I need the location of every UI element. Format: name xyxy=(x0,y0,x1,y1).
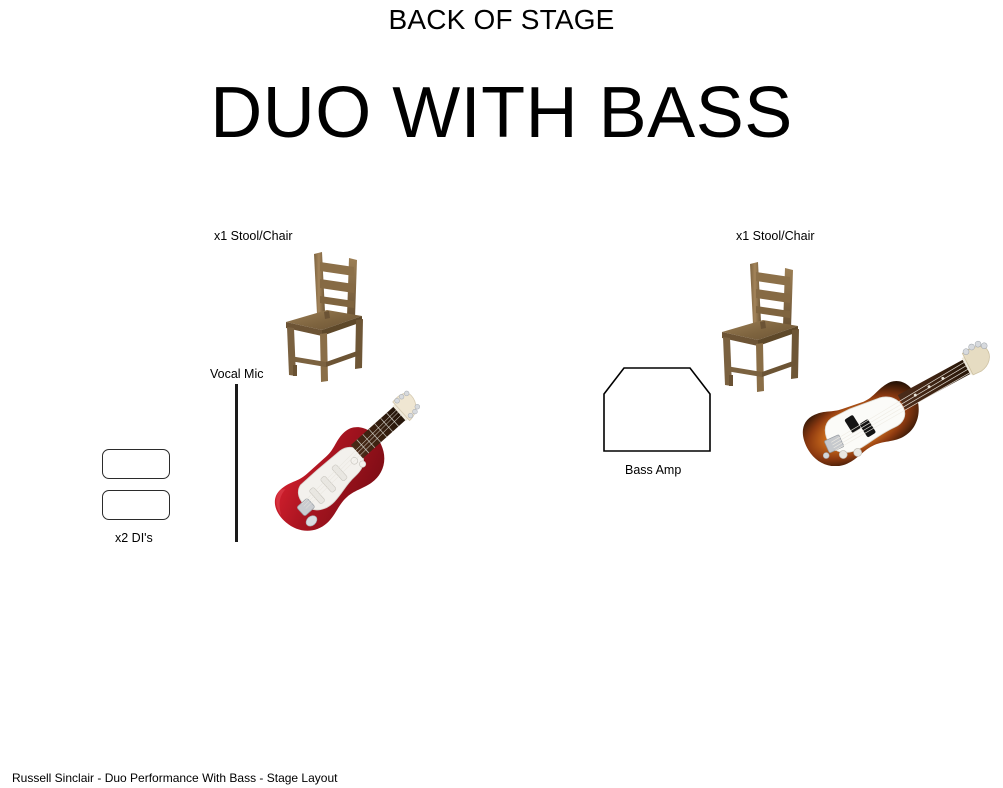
label-stool-left: x1 Stool/Chair xyxy=(214,229,293,244)
mic-stand-icon xyxy=(235,384,238,542)
label-bass-amp: Bass Amp xyxy=(625,463,681,478)
back-of-stage-heading: BACK OF STAGE xyxy=(0,3,1003,37)
stage-plot-canvas: BACK OF STAGE DUO WITH BASS x1 Stool/Cha… xyxy=(0,0,1003,788)
wooden-chair-icon xyxy=(270,248,370,383)
bass-guitar-icon xyxy=(788,326,1003,466)
label-stool-right: x1 Stool/Chair xyxy=(736,229,815,244)
electric-guitar-icon xyxy=(258,376,442,548)
di-box-icon xyxy=(102,449,170,479)
label-direct-inputs: x2 DI's xyxy=(115,531,153,546)
bass-amp-icon xyxy=(603,366,711,453)
page-title: DUO WITH BASS xyxy=(0,72,1003,154)
footer-caption: Russell Sinclair - Duo Performance With … xyxy=(12,771,337,785)
label-vocal-mic: Vocal Mic xyxy=(210,367,264,382)
di-box-icon xyxy=(102,490,170,520)
